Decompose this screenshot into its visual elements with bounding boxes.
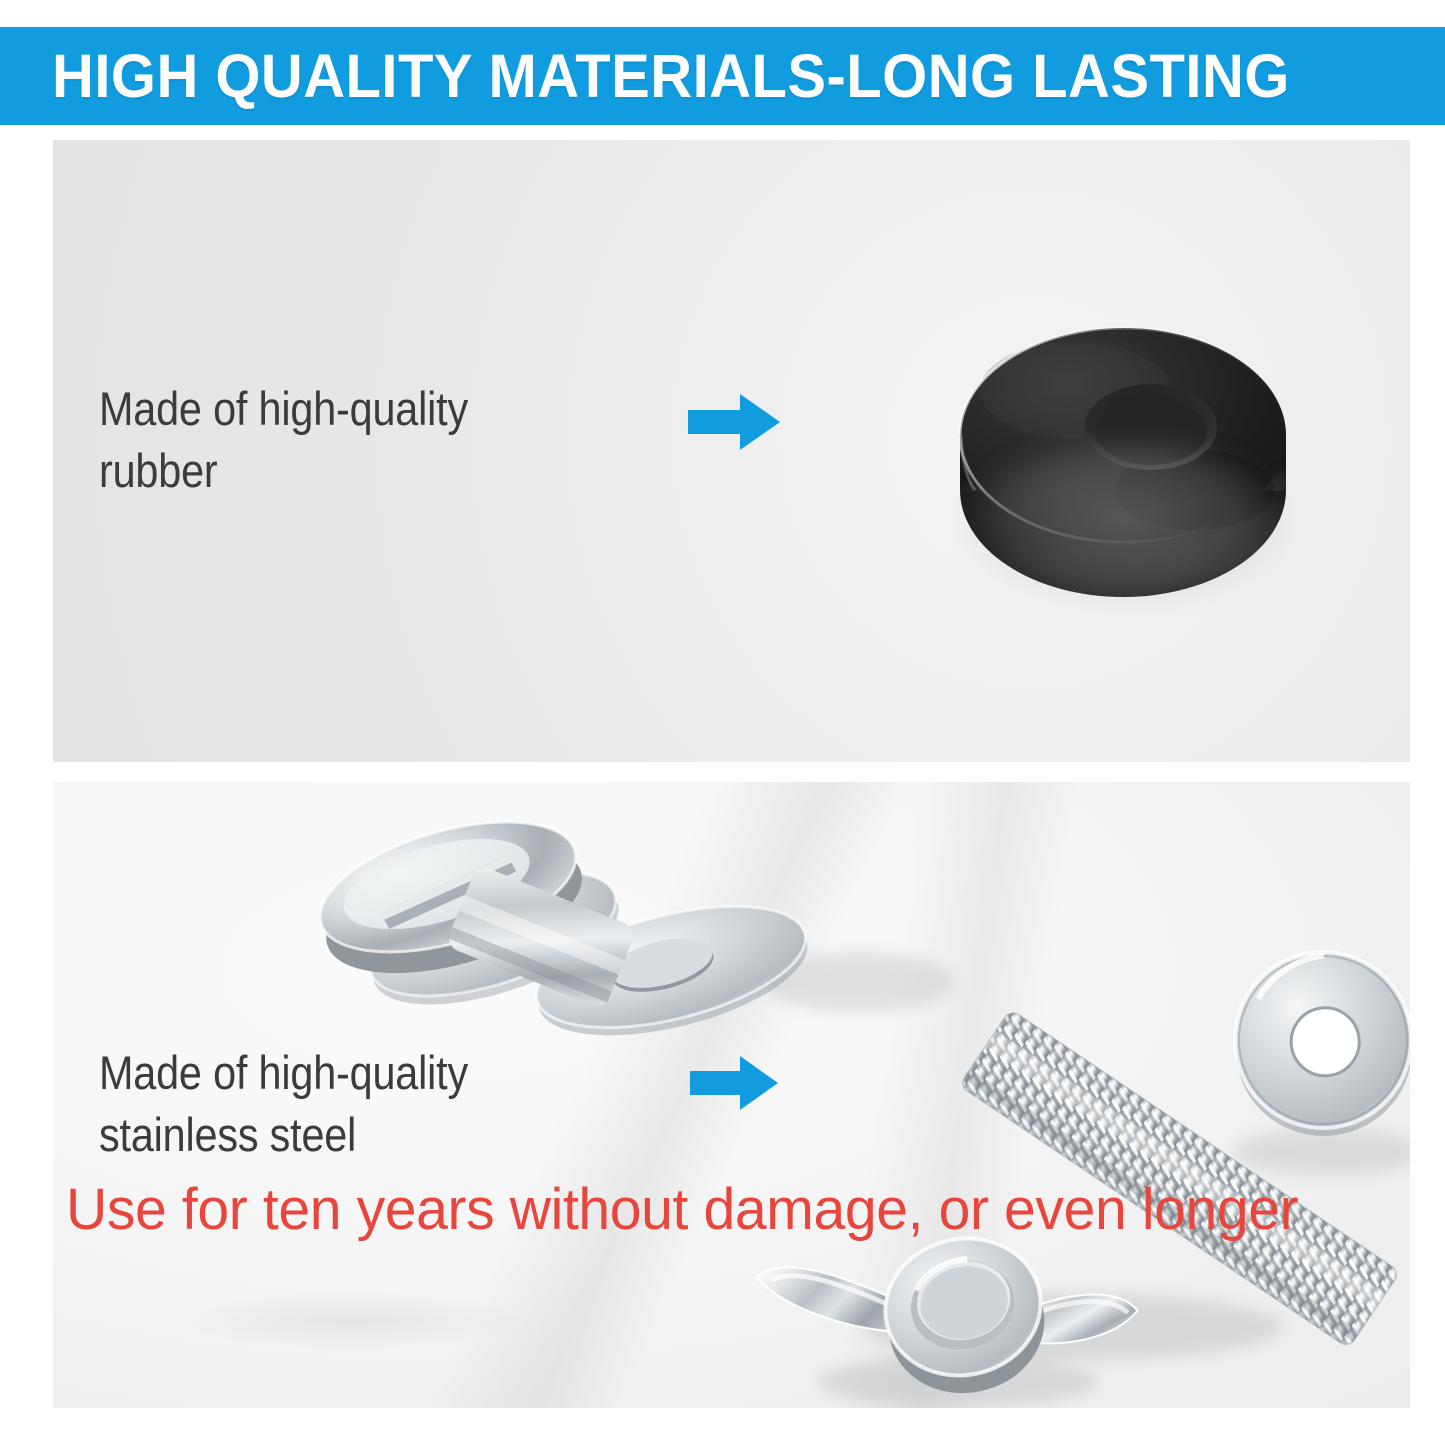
flat-washer-illustration [1226, 943, 1410, 1144]
claim-text: Use for ten years without damage, or eve… [66, 1181, 1298, 1239]
bolt-illustration [306, 797, 1400, 1348]
caption-rubber: Made of high-quality rubber [99, 378, 468, 502]
drop-shadow [961, 435, 1291, 605]
banner-title: HIGH QUALITY MATERIALS-LONG LASTING [52, 46, 1290, 107]
arrow-right-icon [688, 392, 780, 452]
arrow-right-icon [690, 1054, 778, 1112]
product-photo-rubber-washer [955, 285, 1305, 635]
header-banner: HIGH QUALITY MATERIALS-LONG LASTING [0, 27, 1445, 125]
